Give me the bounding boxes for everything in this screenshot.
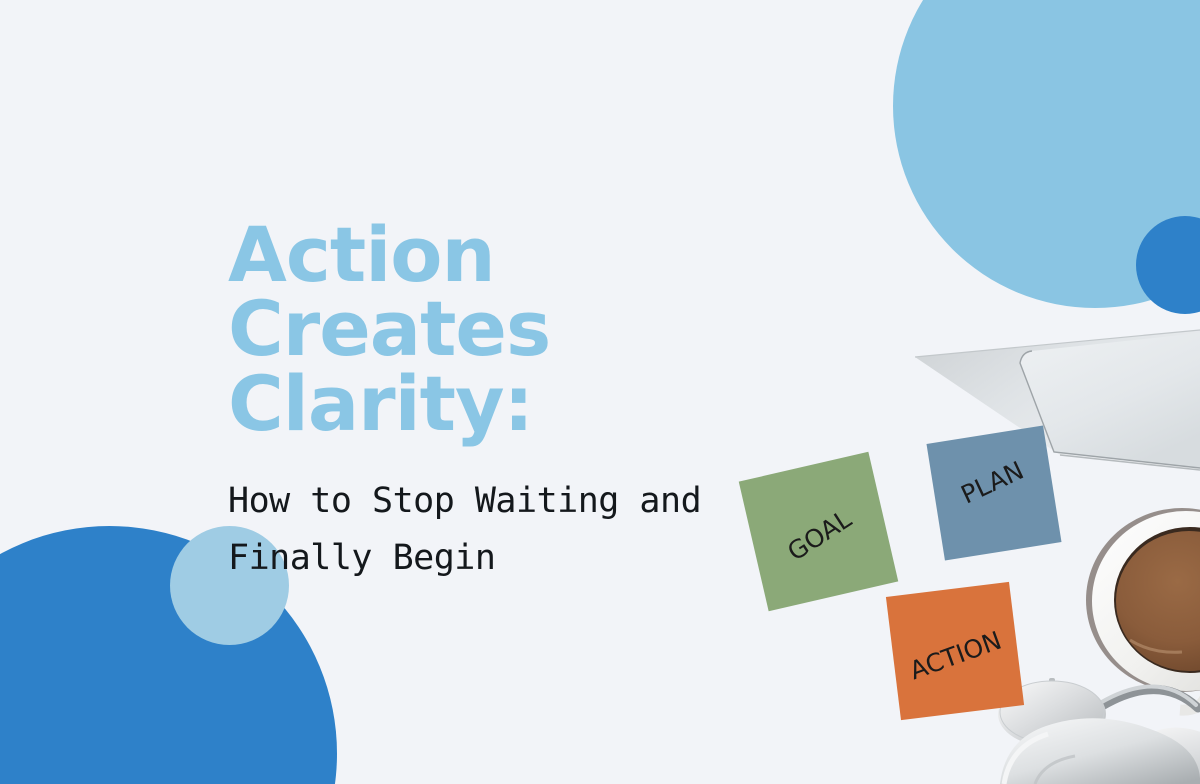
title-block: Action Creates Clarity: How to Stop Wait… bbox=[228, 218, 828, 587]
sticky-note-action: ACTION bbox=[886, 582, 1024, 720]
coffee-cup-icon bbox=[1086, 508, 1200, 710]
page-title: Action Creates Clarity: bbox=[228, 218, 828, 441]
alarm-clock-icon bbox=[998, 678, 1200, 784]
sticky-note-goal: GOAL bbox=[739, 452, 899, 612]
poster-canvas: Action Creates Clarity: How to Stop Wait… bbox=[0, 0, 1200, 784]
sticky-note-plan: PLAN bbox=[926, 425, 1061, 560]
sticky-note-goal-label: GOAL bbox=[756, 487, 883, 584]
sticky-note-action-label: ACTION bbox=[892, 621, 1018, 691]
page-subtitle: How to Stop Waiting and Finally Begin bbox=[228, 473, 828, 586]
sticky-note-plan-label: PLAN bbox=[933, 445, 1052, 521]
